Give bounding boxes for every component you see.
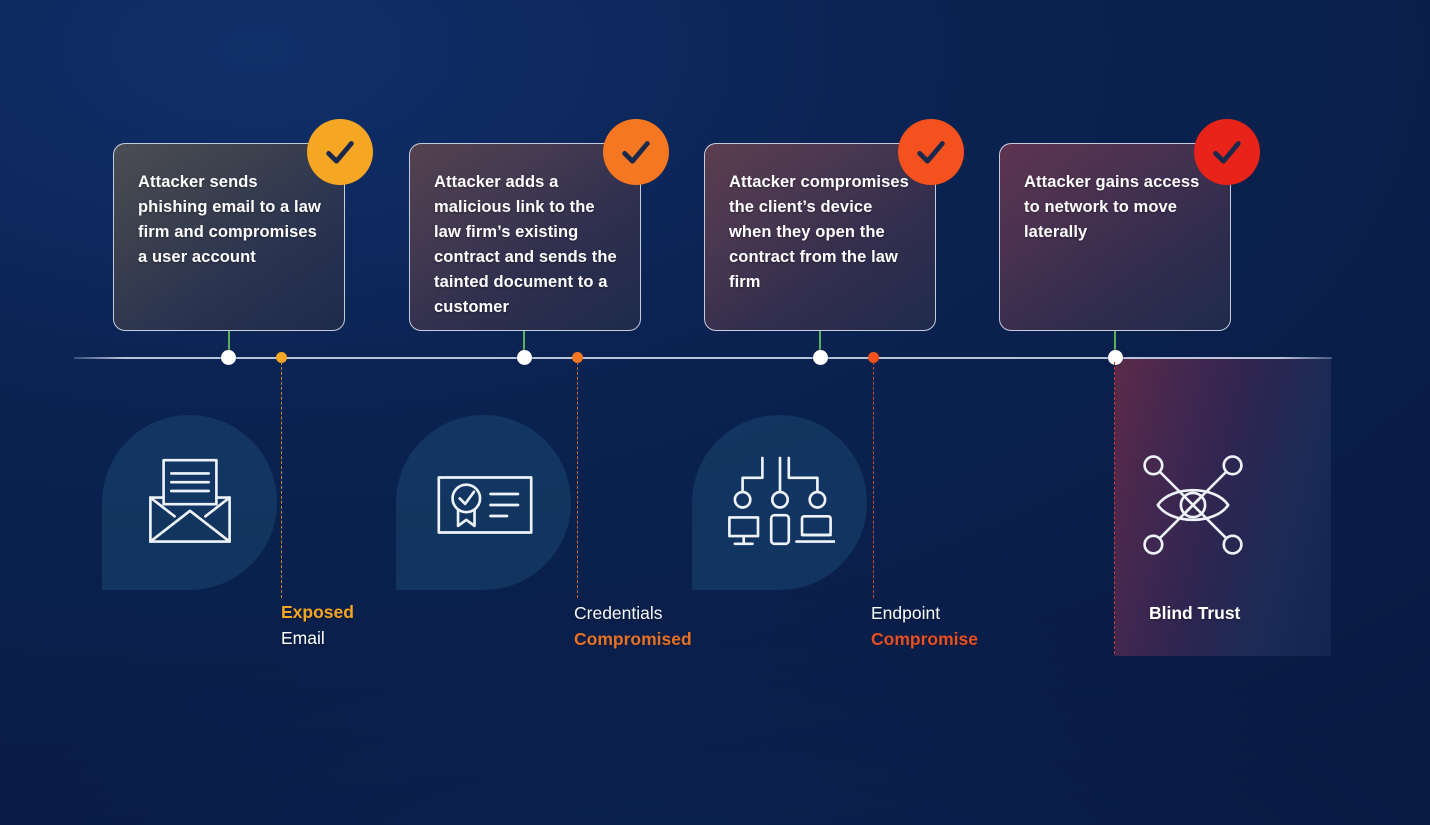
step-card-4[interactable]: Attacker gains access to network to move… bbox=[999, 143, 1231, 331]
diagram-canvas: Attacker sends phishing email to a law f… bbox=[0, 0, 1430, 825]
step-card-1-text: Attacker sends phishing email to a law f… bbox=[138, 173, 321, 266]
certificate-badge-icon bbox=[430, 450, 540, 560]
outcome-label-3: Endpoint Compromise bbox=[871, 601, 978, 653]
step-card-2[interactable]: Attacker adds a malicious link to the la… bbox=[409, 143, 641, 331]
outcome-label-1: Exposed Email bbox=[281, 600, 354, 652]
check-icon bbox=[1210, 135, 1244, 169]
step-card-1[interactable]: Attacker sends phishing email to a law f… bbox=[113, 143, 345, 331]
step-badge-4 bbox=[1194, 119, 1260, 185]
outcome-label-2: Credentials Compromised bbox=[574, 601, 692, 653]
outcome-label-2-line2: Compromised bbox=[574, 627, 692, 653]
outcome-dropline-2 bbox=[577, 362, 578, 598]
endpoint-devices-icon bbox=[725, 447, 835, 557]
outcome-label-1-line2: Email bbox=[281, 626, 354, 652]
email-envelope-icon bbox=[135, 447, 245, 557]
check-icon bbox=[914, 135, 948, 169]
outcome-dropline-3 bbox=[873, 362, 874, 598]
outcome-dropline-1 bbox=[281, 362, 282, 598]
step-badge-2 bbox=[603, 119, 669, 185]
check-icon bbox=[619, 135, 653, 169]
outcome-label-4: Blind Trust bbox=[1149, 601, 1240, 627]
timeline-dot-icon-3[interactable] bbox=[813, 350, 828, 365]
outcome-label-3-line1: Endpoint bbox=[871, 601, 978, 627]
blind-eye-network-icon bbox=[1138, 450, 1248, 560]
outcome-label-4-line1: Blind Trust bbox=[1149, 601, 1240, 627]
check-icon bbox=[323, 135, 357, 169]
step-card-4-text: Attacker gains access to network to move… bbox=[1024, 173, 1199, 241]
outcome-label-3-line2: Compromise bbox=[871, 627, 978, 653]
timeline-dot-icon-4[interactable] bbox=[1108, 350, 1123, 365]
step-badge-3 bbox=[898, 119, 964, 185]
step-card-2-text: Attacker adds a malicious link to the la… bbox=[434, 173, 617, 316]
step-badge-1 bbox=[307, 119, 373, 185]
step-card-3[interactable]: Attacker compromises the client’s device… bbox=[704, 143, 936, 331]
step-card-3-text: Attacker compromises the client’s device… bbox=[729, 173, 909, 291]
outcome-label-2-line1: Credentials bbox=[574, 601, 692, 627]
outcome-label-1-line1: Exposed bbox=[281, 600, 354, 626]
timeline-axis bbox=[74, 357, 1332, 359]
timeline-dot-icon-1[interactable] bbox=[221, 350, 236, 365]
timeline-dot-icon-2[interactable] bbox=[517, 350, 532, 365]
outcome-dropline-4 bbox=[1114, 362, 1115, 654]
